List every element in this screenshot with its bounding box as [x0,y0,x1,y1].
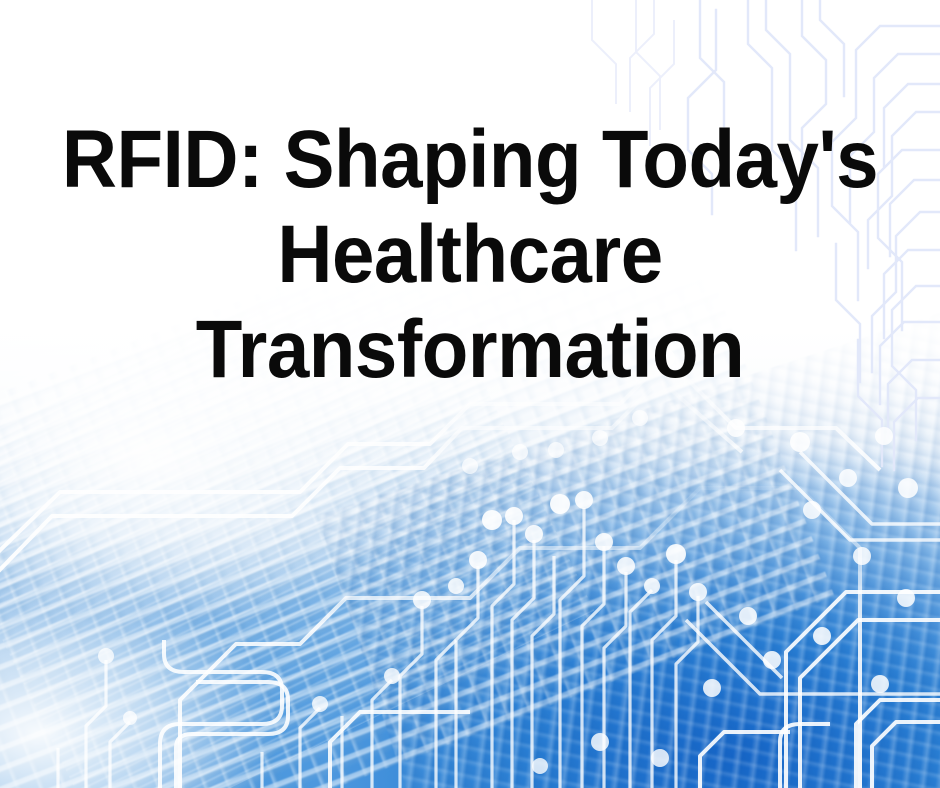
rfid-healthcare-banner: RFID: Shaping Today's Healthcare Transfo… [0,0,940,788]
